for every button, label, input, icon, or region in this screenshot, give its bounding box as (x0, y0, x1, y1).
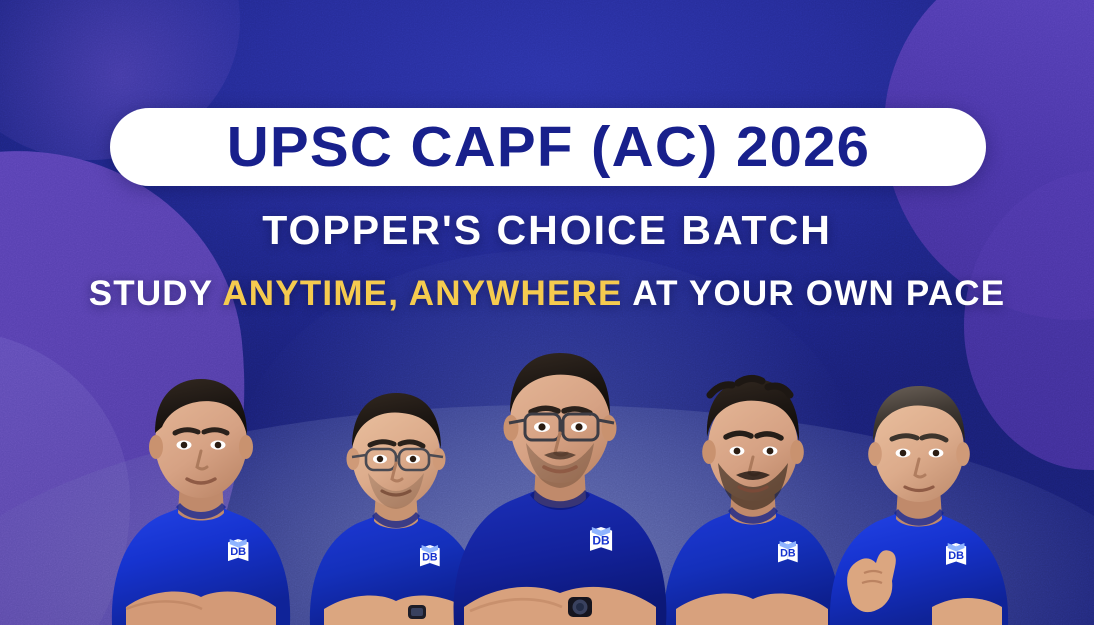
wristwatch (408, 605, 426, 619)
brand-logo: DB (946, 543, 966, 565)
tagline-suffix: AT YOUR OWN PACE (623, 274, 1006, 313)
faculty-member-1: DB (96, 357, 306, 625)
faculty-group: DB (0, 335, 1094, 625)
tagline-prefix: STUDY (89, 274, 223, 313)
wristwatch (568, 597, 592, 617)
brand-logo: DB (778, 541, 798, 562)
svg-text:DB: DB (592, 533, 610, 547)
svg-text:DB: DB (780, 548, 796, 560)
faculty-member-3: DB (440, 335, 680, 625)
svg-text:DB: DB (230, 546, 246, 558)
faculty-member-5: DB (812, 367, 1027, 625)
title-pill: UPSC CAPF (AC) 2026 (110, 108, 986, 186)
brand-logo: DB (228, 539, 248, 561)
tagline-highlight: ANYTIME, ANYWHERE (222, 274, 622, 313)
brand-logo: DB (590, 527, 612, 551)
subtitle: TOPPER'S CHOICE BATCH (0, 207, 1094, 254)
brand-logo: DB (420, 545, 440, 566)
page-title: UPSC CAPF (AC) 2026 (226, 119, 870, 176)
promo-banner: DB (0, 0, 1094, 625)
svg-text:DB: DB (948, 550, 964, 562)
tagline: STUDY ANYTIME, ANYWHERE AT YOUR OWN PACE (0, 274, 1094, 314)
svg-text:DB: DB (422, 552, 438, 564)
